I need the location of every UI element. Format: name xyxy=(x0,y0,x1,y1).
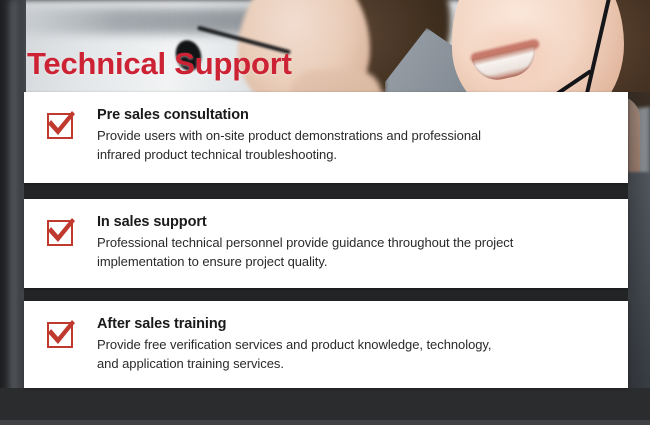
support-card: After sales training Provide free verifi… xyxy=(24,301,628,388)
check-glyph xyxy=(43,214,77,248)
support-card: In sales support Professional technical … xyxy=(24,199,628,288)
card-gap-two xyxy=(24,288,628,301)
card-heading: Pre sales consultation xyxy=(97,106,612,124)
checked-checkbox-icon xyxy=(43,316,77,350)
card-body-line: implementation to ensure project quality… xyxy=(97,252,612,271)
card-heading: After sales training xyxy=(97,315,612,333)
page-title: Technical Support xyxy=(27,46,292,82)
card-body: Provide free verification services and p… xyxy=(97,335,612,373)
card-body-line: Professional technical personnel provide… xyxy=(97,233,612,252)
right-dark-edge xyxy=(628,92,650,390)
slide-canvas: Technical Support Pre sales consultation… xyxy=(0,0,650,425)
check-glyph xyxy=(43,107,77,141)
card-body-line: Provide users with on-site product demon… xyxy=(97,126,612,145)
checked-checkbox-icon xyxy=(43,107,77,141)
card-body: Professional technical personnel provide… xyxy=(97,233,612,271)
card-body: Provide users with on-site product demon… xyxy=(97,126,612,164)
support-card: Pre sales consultation Provide users wit… xyxy=(24,92,628,183)
checked-checkbox-icon xyxy=(43,214,77,248)
card-body-line: and application training services. xyxy=(97,354,612,373)
check-glyph xyxy=(43,316,77,350)
card-body-line: Provide free verification services and p… xyxy=(97,335,612,354)
left-panel-highlight xyxy=(8,0,19,425)
card-heading: In sales support xyxy=(97,213,612,231)
bottom-accent-line xyxy=(0,420,650,425)
card-gap-one xyxy=(24,183,628,199)
card-body-line: infrared product technical troubleshooti… xyxy=(97,145,612,164)
